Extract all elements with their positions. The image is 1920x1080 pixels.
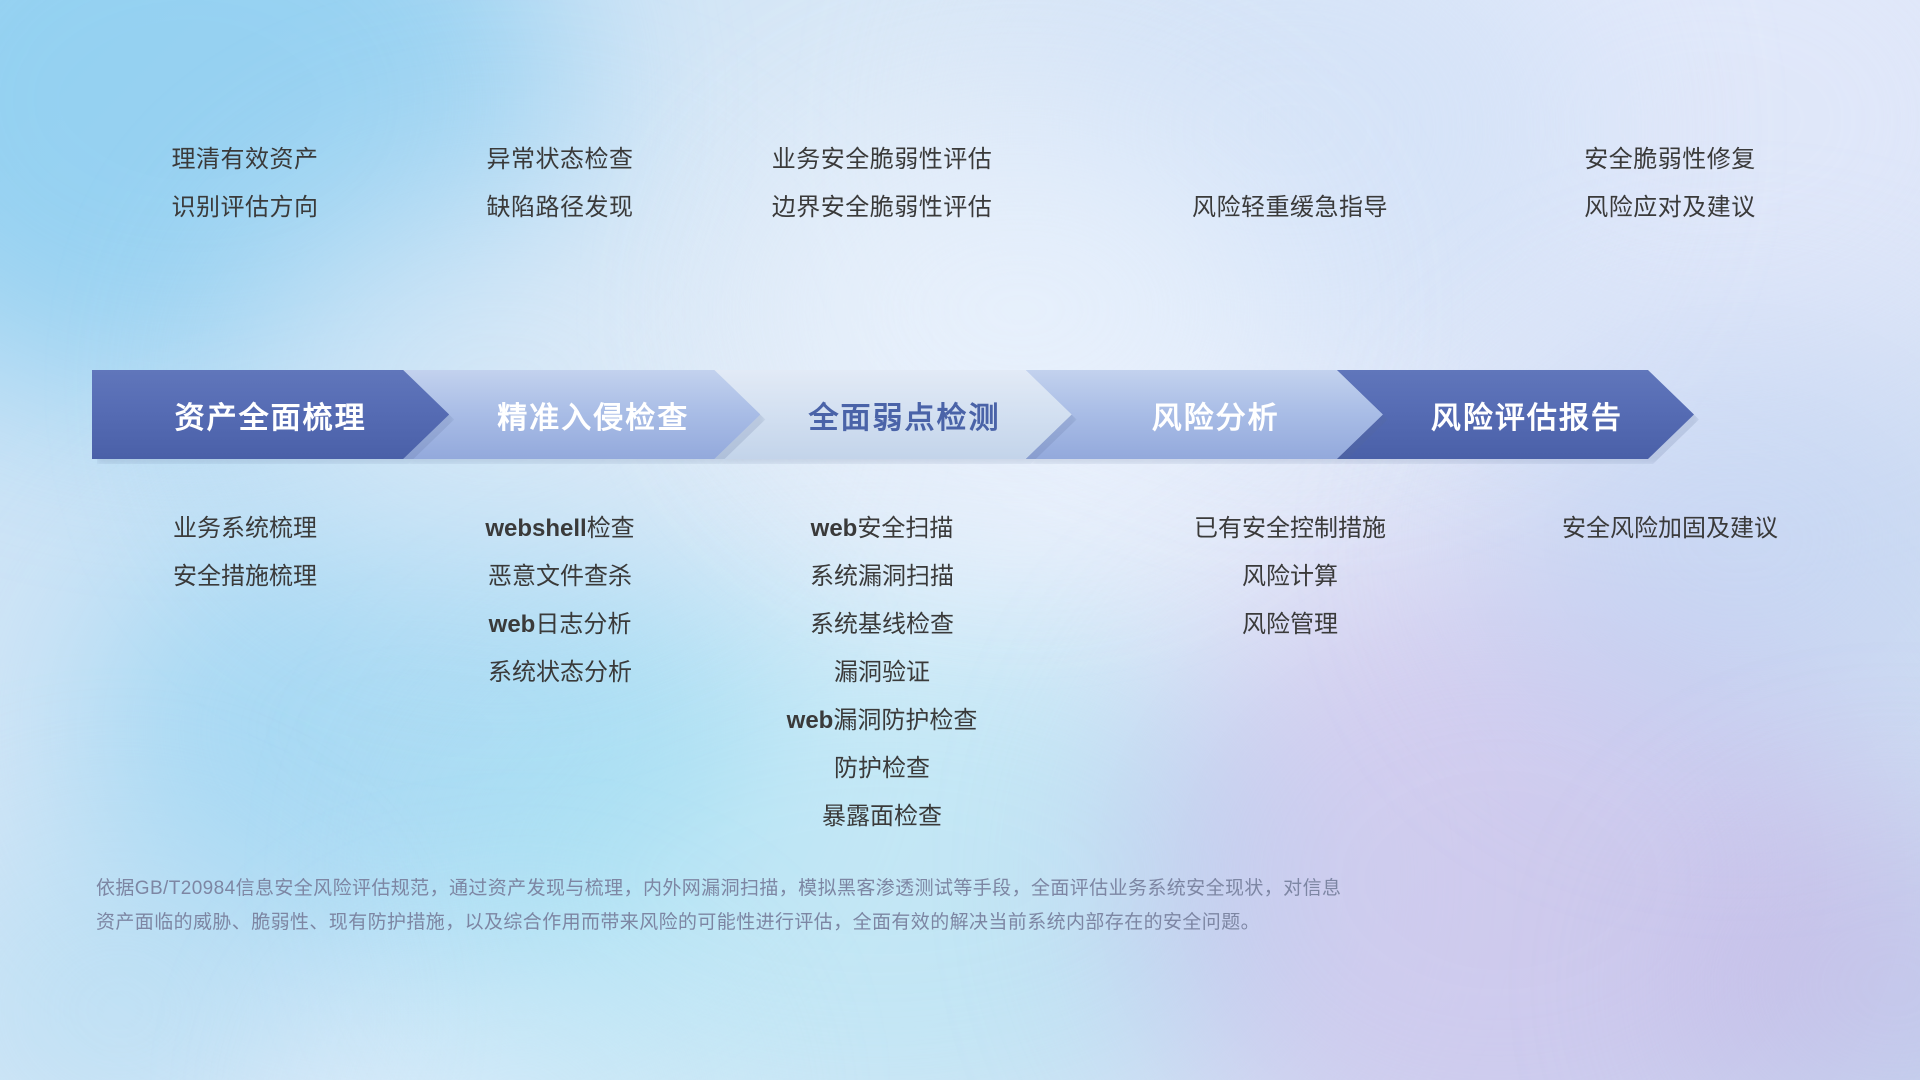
callout-line: 识别评估方向: [65, 184, 425, 232]
detail-item-text: 日志分析: [535, 611, 631, 638]
top-callout-5: 安全脆弱性修复风险应对及建议: [1490, 136, 1850, 232]
detail-item: web漏洞防护检查: [702, 697, 1062, 745]
process-step-5[interactable]: 风险评估报告: [1337, 370, 1694, 459]
callout-line: 风险轻重缓急指导: [1110, 184, 1470, 232]
step-label: 精准入侵检查: [497, 393, 689, 437]
detail-item: 系统基线检查: [702, 601, 1062, 649]
process-step-3[interactable]: 全面弱点检测: [714, 370, 1071, 459]
process-step-4[interactable]: 风险分析: [1026, 370, 1383, 459]
detail-item-keyword: web: [811, 515, 858, 542]
detail-list-2: webshell检查恶意文件查杀web日志分析系统状态分析: [380, 505, 740, 697]
detail-list-3: web安全扫描系统漏洞扫描系统基线检查漏洞验证web漏洞防护检查防护检查暴露面检…: [702, 505, 1062, 841]
top-callout-3: 业务安全脆弱性评估边界安全脆弱性评估: [702, 136, 1062, 232]
detail-item: 风险计算: [1110, 553, 1470, 601]
detail-item: 防护检查: [702, 745, 1062, 793]
detail-item-text: 安全扫描: [857, 515, 953, 542]
callout-line: 缺陷路径发现: [380, 184, 740, 232]
detail-item: 系统状态分析: [380, 649, 740, 697]
detail-item: web日志分析: [380, 601, 740, 649]
process-step-2[interactable]: 精准入侵检查: [403, 370, 760, 459]
step-label: 风险分析: [1152, 393, 1280, 437]
detail-item: 恶意文件查杀: [380, 553, 740, 601]
detail-item-text: 检查: [587, 515, 635, 542]
top-callout-2: 异常状态检查缺陷路径发现: [380, 136, 740, 232]
detail-item: 风险管理: [1110, 601, 1470, 649]
detail-item-keyword: webshell: [485, 515, 586, 542]
process-step-1[interactable]: 资产全面梳理: [92, 370, 449, 459]
callout-line: 业务安全脆弱性评估: [702, 136, 1062, 184]
detail-item: 安全风险加固及建议: [1490, 505, 1850, 553]
top-callout-4: 风险轻重缓急指导: [1110, 184, 1470, 232]
detail-item: 安全措施梳理: [65, 553, 425, 601]
process-chevron-band: 资产全面梳理精准入侵检查全面弱点检测风险分析风险评估报告: [92, 370, 1832, 459]
detail-item-keyword: web: [787, 707, 834, 734]
detail-item: webshell检查: [380, 505, 740, 553]
detail-item-text: 漏洞防护检查: [833, 707, 977, 734]
callout-line: 风险应对及建议: [1490, 184, 1850, 232]
footer-description: 依据GB/T20984信息安全风险评估规范，通过资产发现与梳理，内外网漏洞扫描，…: [96, 872, 1616, 940]
footer-line-1: 依据GB/T20984信息安全风险评估规范，通过资产发现与梳理，内外网漏洞扫描，…: [96, 872, 1616, 906]
detail-item: 漏洞验证: [702, 649, 1062, 697]
detail-item: 暴露面检查: [702, 793, 1062, 841]
detail-item: 系统漏洞扫描: [702, 553, 1062, 601]
detail-item: web安全扫描: [702, 505, 1062, 553]
step-label: 风险评估报告: [1431, 393, 1623, 437]
detail-item: 业务系统梳理: [65, 505, 425, 553]
detail-list-5: 安全风险加固及建议: [1490, 505, 1850, 553]
callout-line: 边界安全脆弱性评估: [702, 184, 1062, 232]
step-label: 全面弱点检测: [808, 393, 1000, 437]
callout-line: 理清有效资产: [65, 136, 425, 184]
detail-item-keyword: web: [489, 611, 536, 638]
detail-list-4: 已有安全控制措施风险计算风险管理: [1110, 505, 1470, 649]
detail-list-1: 业务系统梳理安全措施梳理: [65, 505, 425, 601]
step-label: 资产全面梳理: [175, 393, 367, 437]
top-callout-1: 理清有效资产识别评估方向: [65, 136, 425, 232]
callout-line: 安全脆弱性修复: [1490, 136, 1850, 184]
callout-line: 异常状态检查: [380, 136, 740, 184]
footer-line-2: 资产面临的威胁、脆弱性、现有防护措施，以及综合作用而带来风险的可能性进行评估，全…: [96, 906, 1616, 940]
detail-item: 已有安全控制措施: [1110, 505, 1470, 553]
